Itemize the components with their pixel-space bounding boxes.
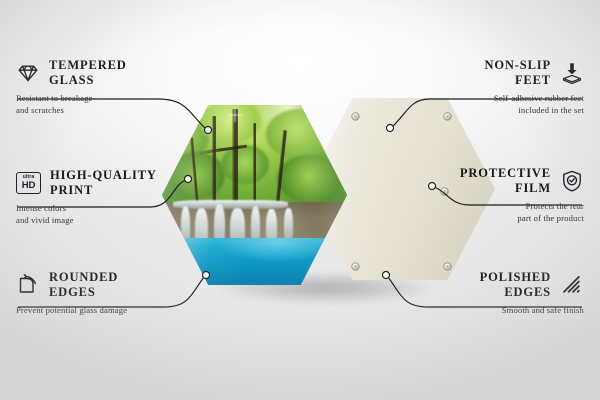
ultra-hd-badge-icon: ultra HD — [16, 172, 41, 194]
feature-title-line1: HIGH-QUALITY — [50, 168, 157, 182]
feature-title-line2: FEET — [515, 73, 551, 87]
feature-high-quality-print: ultra HD HIGH-QUALITY PRINT Intense colo… — [16, 166, 226, 227]
photo-foliage-clump — [221, 145, 269, 185]
mounting-hole-top-left — [352, 113, 359, 120]
feature-title-line1: TEMPERED — [49, 58, 127, 72]
feature-header: ROUNDED EDGES — [16, 268, 226, 302]
feature-protective-film: PROTECTIVE FILM Protects the rear part o… — [374, 164, 584, 225]
feature-description: Prevent potential glass damage — [16, 302, 226, 317]
infographic-canvas: TEMPERED GLASS Resistant to breakage and… — [0, 0, 600, 400]
feature-header: ultra HD HIGH-QUALITY PRINT — [16, 166, 226, 200]
feature-title-line2: GLASS — [49, 73, 94, 87]
photo-foliage-clump — [277, 155, 340, 202]
feature-header: NON-SLIP FEET — [374, 56, 584, 90]
feature-desc-line2: and vivid image — [16, 215, 74, 225]
photo-tree-trunk — [232, 109, 238, 213]
diamond-icon — [16, 61, 40, 85]
feature-title-line1: NON-SLIP — [484, 58, 551, 72]
photo-foliage-clump — [266, 109, 333, 159]
feature-desc-line2: part of the product — [517, 213, 584, 223]
feature-title-line1: PROTECTIVE — [460, 166, 551, 180]
feature-title: POLISHED EDGES — [480, 270, 551, 301]
photo-tree-trunk — [253, 123, 256, 209]
mounting-hole-bottom-left — [352, 263, 359, 270]
rounded-corner-icon — [16, 273, 40, 297]
feature-header: TEMPERED GLASS — [16, 56, 226, 90]
feature-description: Resistant to breakage and scratches — [16, 90, 226, 117]
feature-title-line1: ROUNDED — [49, 270, 118, 284]
feature-title-line2: EDGES — [49, 285, 96, 299]
feature-title-line2: PRINT — [50, 183, 93, 197]
feature-desc-line1: Self-adhesive rubber feet — [494, 93, 584, 103]
feature-rounded-edges: ROUNDED EDGES Prevent potential glass da… — [16, 268, 226, 317]
feature-title-line2: EDGES — [504, 285, 551, 299]
feature-title: NON-SLIP FEET — [484, 58, 551, 89]
feature-description: Protects the rear part of the product — [374, 198, 584, 225]
feature-desc-line2: included in the set — [518, 105, 584, 115]
feature-description: Self-adhesive rubber feet included in th… — [374, 90, 584, 117]
feature-tempered-glass: TEMPERED GLASS Resistant to breakage and… — [16, 56, 226, 117]
feature-desc-line2: and scratches — [16, 105, 64, 115]
feature-header: PROTECTIVE FILM — [374, 164, 584, 198]
feature-title: PROTECTIVE FILM — [460, 166, 551, 197]
feature-desc-line1: Prevent potential glass damage — [16, 305, 127, 315]
feature-non-slip-feet: NON-SLIP FEET Self-adhesive rubber feet … — [374, 56, 584, 117]
feature-title-line1: POLISHED — [480, 270, 551, 284]
shield-check-icon — [560, 169, 584, 193]
feature-header: POLISHED EDGES — [374, 268, 584, 302]
feature-description: Intense colors and vivid image — [16, 200, 226, 227]
feature-polished-edges: POLISHED EDGES Smooth and safe finish — [374, 268, 584, 317]
badge-big-text: HD — [22, 181, 35, 191]
feature-desc-line1: Intense colors — [16, 203, 66, 213]
diagonal-hatch-icon — [560, 273, 584, 297]
feature-title: TEMPERED GLASS — [49, 58, 127, 89]
feature-desc-line1: Resistant to breakage — [16, 93, 93, 103]
feature-desc-line1: Protects the rear — [526, 201, 584, 211]
feature-title: ROUNDED EDGES — [49, 270, 118, 301]
feature-desc-line1: Smooth and safe finish — [502, 305, 584, 315]
feature-title-line2: FILM — [515, 181, 551, 195]
press-down-pad-icon — [560, 61, 584, 85]
feature-description: Smooth and safe finish — [374, 302, 584, 317]
feature-title: HIGH-QUALITY PRINT — [50, 168, 157, 199]
